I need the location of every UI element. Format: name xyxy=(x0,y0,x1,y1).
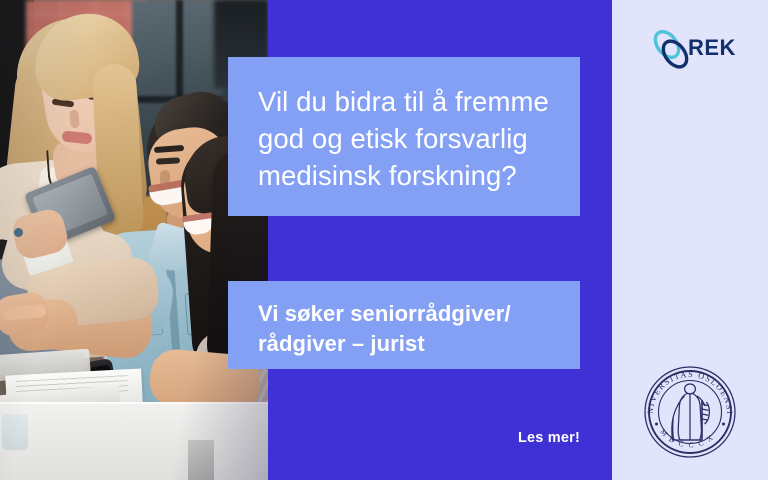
rek-wordmark: REK xyxy=(688,35,736,61)
recruitment-banner: Vil du bidra til å fremme god og etisk f… xyxy=(0,0,768,480)
read-more-link[interactable]: Les mer! xyxy=(380,430,580,446)
uio-seal: UNIVERSITAS OSLOENSIS M D C C C X I xyxy=(640,362,740,462)
headline-box: Vil du bidra til å fremme god og etisk f… xyxy=(228,57,580,216)
job-title-box: Vi søker seniorrådgiver/ rådgiver – juri… xyxy=(228,281,580,369)
job-title-text: Vi søker seniorrådgiver/ rådgiver – juri… xyxy=(258,299,550,359)
uio-seal-icon: UNIVERSITAS OSLOENSIS M D C C C X I xyxy=(640,362,740,462)
headline-text: Vil du bidra til å fremme god og etisk f… xyxy=(258,83,550,194)
rek-logo: REK xyxy=(650,28,742,72)
uio-seal-top-text: UNIVERSITAS OSLOENSIS xyxy=(640,362,734,415)
